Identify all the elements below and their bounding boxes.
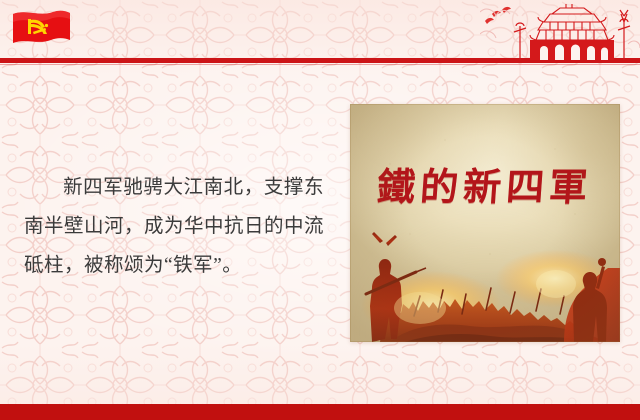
slide-canvas: 新四军驰骋大江南北，支撑东南半壁山河，成为华中抗日的中流砥柱，被称颂为“铁军”。: [0, 0, 640, 420]
header-divider-rule-secondary: [0, 64, 640, 65]
footer-bar: [0, 404, 640, 420]
photo-panel: 鐵的新四軍: [350, 104, 620, 342]
photo-calligraphy-title: 鐵的新四軍: [350, 156, 620, 211]
soldiers-charge-silhouette: [350, 210, 620, 342]
body-paragraph: 新四军驰骋大江南北，支撑东南半壁山河，成为华中抗日的中流砥柱，被称颂为“铁军”。: [24, 168, 324, 285]
paragraph-text: 新四军驰骋大江南北，支撑东南半壁山河，成为华中抗日的中流砥柱，被称颂为“铁军”。: [24, 177, 324, 276]
cpc-party-flag-icon: [8, 6, 74, 56]
tiananmen-gate-icon: [480, 0, 640, 60]
